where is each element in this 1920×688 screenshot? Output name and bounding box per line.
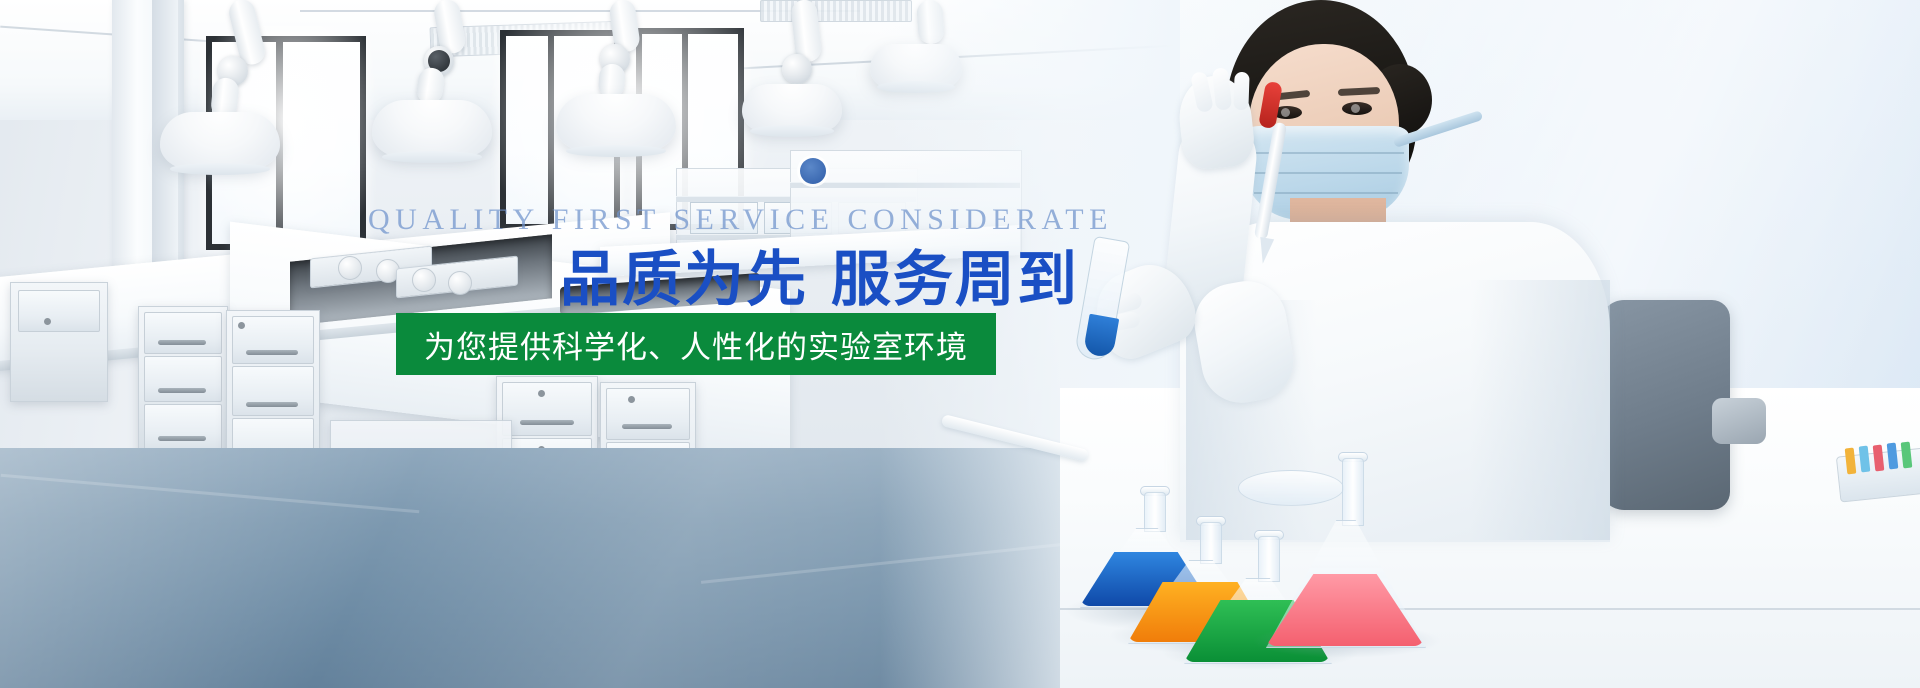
cabinet-drawer [606,388,690,440]
face-mask-pleat [1254,192,1398,194]
lab-chair [1600,300,1730,510]
petri-dish [1238,470,1344,506]
cabinet-drawer [144,312,222,354]
bench-socket-knob [448,271,472,295]
flask-neck [1144,492,1166,532]
banner-headline: 品质为先 服务周到 [560,248,1030,312]
lab-task-lamp [556,94,676,152]
drawer-handle [246,402,298,407]
lab-task-lamp [372,100,492,158]
cabinet-drawer [232,366,314,416]
drawer-lock-icon [538,390,545,397]
cabinet-drawer [502,382,592,436]
banner-eyebrow-text: QUALITY FIRST SERVICE CONSIDERATE [368,203,1028,237]
bench-socket-knob [412,268,436,292]
lab-task-lamp [742,84,842,132]
cabinet-drawer [144,404,222,450]
drawer-handle [158,436,206,441]
exhaust-arm-joint [782,54,812,84]
drawer-handle [520,420,574,425]
cabinet-drawer [18,290,100,332]
flask-neck [1258,536,1280,582]
cabinet-drawer [144,356,222,402]
equipment-badge-icon [800,158,826,184]
lab-chair-armrest [1712,398,1766,444]
drawer-lock-icon [238,322,245,329]
drawer-lock-icon [44,318,51,325]
lab-coat-shading [1470,280,1610,540]
banner-subtitle-bar: 为您提供科学化、人性化的实验室环境 [396,313,996,375]
banner-subtitle-text: 为您提供科学化、人性化的实验室环境 [424,322,968,367]
bench-socket-knob [338,256,362,280]
drawer-handle [158,340,206,345]
hero-banner: QUALITY FIRST SERVICE CONSIDERATE 品质为先 服… [0,0,1920,688]
lab-task-lamp [160,112,280,170]
flask-neck [1342,458,1364,526]
flask-neck [1200,522,1222,564]
drawer-handle [158,388,206,393]
drawer-lock-icon [628,396,635,403]
drawer-handle [246,350,298,355]
glove-finger [1233,72,1249,111]
drawer-handle [622,424,672,429]
scientist-eye [1342,102,1372,115]
